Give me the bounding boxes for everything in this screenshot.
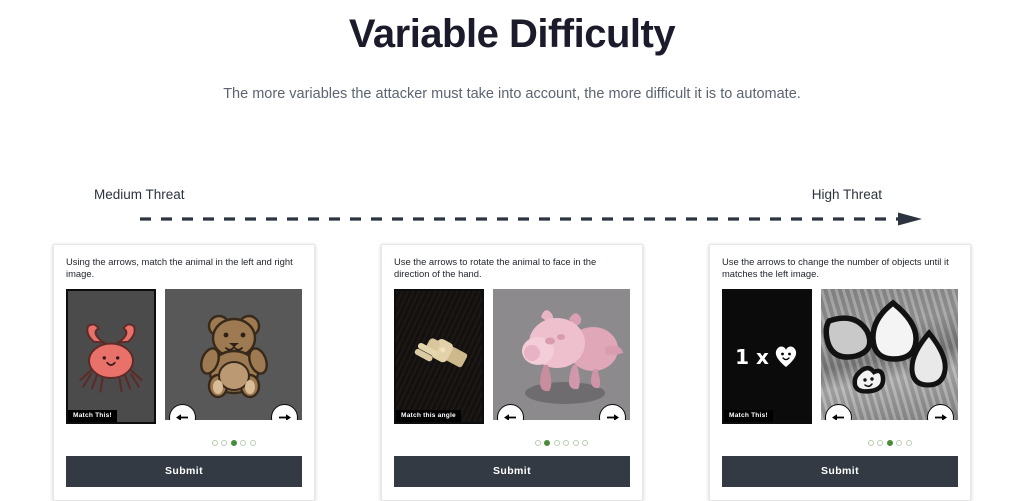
dot[interactable] xyxy=(250,440,256,446)
arrow-left-icon xyxy=(175,411,190,420)
dot[interactable] xyxy=(906,440,912,446)
card-1-progress-dots xyxy=(66,440,302,446)
dot[interactable] xyxy=(877,440,883,446)
card-2-match-tag: Match this angle xyxy=(396,410,461,423)
card-3-count-text: 1 x xyxy=(735,345,769,369)
card-2-target-panel: Match this angle xyxy=(394,289,484,424)
teddy-bear-illustration-icon xyxy=(165,289,302,420)
grayscale-teardrops-photo-icon xyxy=(821,289,958,420)
crab-illustration-icon xyxy=(68,291,154,422)
dot[interactable] xyxy=(535,440,541,446)
difficulty-card-2: Use the arrows to rotate the animal to f… xyxy=(381,244,643,501)
card-2-panels: Match this angle xyxy=(394,289,630,424)
card-1-match-tag: Match This! xyxy=(68,410,117,423)
card-1-panels: Match This! xyxy=(66,289,302,424)
card-1-target-panel: Match This! xyxy=(66,289,156,424)
wooden-hand-photo-icon xyxy=(396,291,482,422)
card-3-panels: 1 x Match This! xyxy=(722,289,958,424)
card-3-progress-dots xyxy=(722,440,958,446)
card-1-submit-button[interactable]: Submit xyxy=(66,456,302,487)
difficulty-card-3: Use the arrows to change the number of o… xyxy=(709,244,971,501)
card-3-target-panel: 1 x Match This! xyxy=(722,289,812,424)
card-1-prompt: Using the arrows, match the animal in th… xyxy=(66,256,302,281)
card-1-choice-panel xyxy=(165,289,302,420)
threat-label-medium: Medium Threat xyxy=(94,186,185,204)
card-3-submit-button[interactable]: Submit xyxy=(722,456,958,487)
dot[interactable] xyxy=(868,440,874,446)
dot[interactable] xyxy=(887,440,893,446)
arrow-left-icon xyxy=(831,411,846,420)
card-3-prompt: Use the arrows to change the number of o… xyxy=(722,256,958,281)
dot[interactable] xyxy=(554,440,560,446)
card-2-prompt: Use the arrows to rotate the animal to f… xyxy=(394,256,630,281)
dot[interactable] xyxy=(573,440,579,446)
page-title: Variable Difficulty xyxy=(0,6,1024,62)
arrow-right-icon xyxy=(277,411,292,420)
arrow-right-icon xyxy=(933,411,948,420)
pink-hippo-render-icon xyxy=(493,289,630,420)
dot[interactable] xyxy=(231,440,237,446)
difficulty-card-1: Using the arrows, match the animal in th… xyxy=(53,244,315,501)
dot[interactable] xyxy=(240,440,246,446)
card-2-choice-panel xyxy=(493,289,630,420)
threat-arrow-icon xyxy=(140,212,930,226)
card-2-progress-dots xyxy=(394,440,630,446)
card-3-choice-panel xyxy=(821,289,958,420)
page-subtitle: The more variables the attacker must tak… xyxy=(0,84,1024,104)
threat-label-high: High Threat xyxy=(812,186,882,204)
arrow-left-icon xyxy=(503,411,518,420)
dot[interactable] xyxy=(544,440,550,446)
arrow-right-icon xyxy=(605,411,620,420)
dot[interactable] xyxy=(212,440,218,446)
card-3-count-prompt: 1 x xyxy=(724,291,810,422)
card-3-match-tag: Match This! xyxy=(724,410,773,423)
dot[interactable] xyxy=(221,440,227,446)
dot[interactable] xyxy=(563,440,569,446)
dot[interactable] xyxy=(582,440,588,446)
threat-scale: Medium Threat High Threat xyxy=(88,186,938,231)
smiley-heart-icon xyxy=(773,345,799,369)
difficulty-card-row: Using the arrows, match the animal in th… xyxy=(0,244,1024,501)
card-2-submit-button[interactable]: Submit xyxy=(394,456,630,487)
dot[interactable] xyxy=(896,440,902,446)
